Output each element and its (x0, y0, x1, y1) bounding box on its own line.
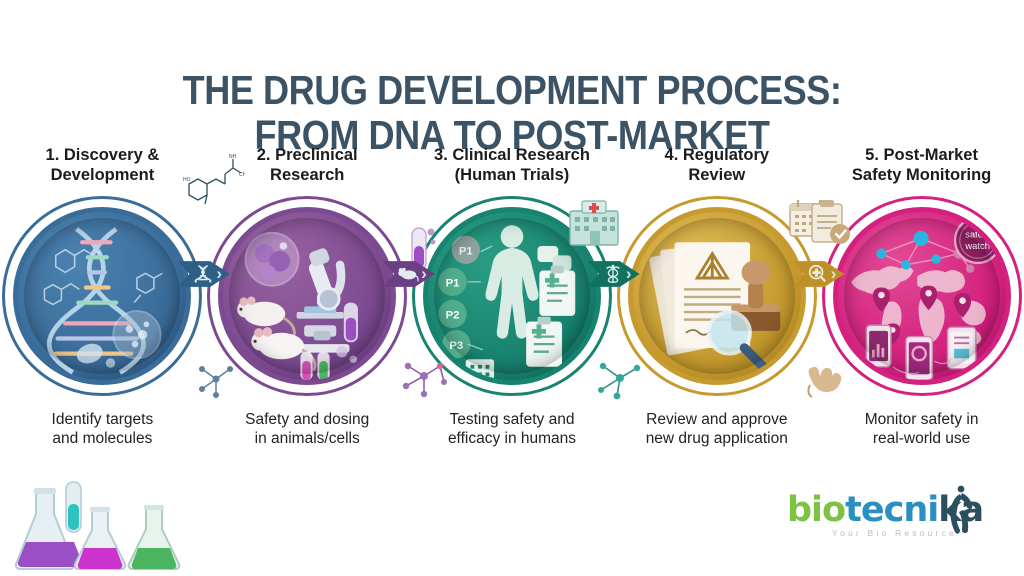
safety-watch-badge: safety watch (955, 218, 1000, 263)
molecule-node-icon (398, 350, 450, 402)
hand-pill-icon (800, 355, 846, 401)
clipboard-check-icon (806, 196, 854, 252)
stage-1-caption: Identify targetsand molecules (2, 410, 202, 449)
smartphone-icon (866, 325, 891, 367)
clipboard-icon (539, 266, 575, 316)
stage-2-caption: Safety and dosingin animals/cells (207, 410, 407, 449)
connector-stage-2-to-3: › (383, 251, 435, 297)
stage-3-label: 3. Clinical Research(Human Trials) (412, 146, 612, 190)
stage-1-inner-disc (13, 207, 191, 385)
stage-4-label: 4. RegulatoryReview (617, 146, 817, 190)
stage-5-artwork: safety watch (838, 212, 1006, 380)
clipboard-icon (526, 317, 562, 367)
stage-1-label: 1. Discovery &Development (2, 146, 202, 190)
phase-badges: P1 P1 P2 P3 (438, 236, 480, 359)
logo-part-tecni: tecni (845, 490, 938, 530)
chevron-right-icon: › (216, 265, 222, 282)
petri-dish-icon (114, 311, 161, 358)
stage-2-inner-disc (218, 207, 396, 385)
stage-5-caption: Monitor safety inreal-world use (822, 410, 1022, 449)
stage-2-artwork (223, 212, 391, 380)
erlenmeyer-flask (129, 505, 180, 569)
connector-stage-3-to-4: › (588, 251, 640, 297)
connector-stage-1-to-2: › (178, 251, 230, 297)
chevron-right-icon: › (626, 265, 632, 282)
logo-human-figure-icon (942, 480, 976, 534)
stage-1-circle[interactable] (2, 196, 202, 396)
microscope-icon (291, 247, 350, 353)
bacteria-icon (75, 341, 106, 367)
lab-mouse-icon (397, 262, 419, 286)
stage-4-inner-disc (628, 207, 806, 385)
stage-3-caption: Testing safety andefficacy in humans (412, 410, 612, 449)
svg-text:CH: CH (239, 172, 245, 178)
molecule-node-icon (192, 355, 240, 403)
svg-text:safety: safety (965, 228, 990, 239)
approval-search-icon (806, 262, 828, 286)
process-stage-row: 1. Discovery &Development (0, 146, 1024, 476)
logo-wordmark: biotecnika (787, 490, 1002, 532)
tablet-icon (947, 327, 975, 369)
chevron-right-icon: › (831, 265, 837, 282)
erlenmeyer-flask (75, 507, 126, 569)
molecule-serotonin-icon: HO NH CH (175, 150, 245, 220)
calendar-icon (466, 359, 494, 380)
laboratory-flasks-graphic (14, 480, 189, 572)
molecule-node-icon (593, 352, 647, 404)
title-line-1: THE DRUG DEVELOPMENT PROCESS: (183, 67, 842, 113)
logo-part-bio: bio (787, 490, 845, 530)
svg-text:NH: NH (229, 154, 237, 160)
caduceus-icon (602, 262, 624, 286)
dna-helix-icon (192, 262, 214, 286)
svg-text:P3: P3 (449, 340, 463, 352)
svg-text:HO: HO (183, 177, 191, 183)
svg-text:watch: watch (964, 240, 990, 251)
svg-text:P1: P1 (459, 245, 473, 257)
test-tube-icon (344, 303, 358, 343)
stage-5-label: 5. Post-MarketSafety Monitoring (822, 146, 1022, 190)
test-tube (66, 482, 81, 532)
stage-4-caption: Review and approvenew drug application (617, 410, 817, 449)
stage-5-inner-disc: safety watch (833, 207, 1011, 385)
hospital-building-icon (564, 193, 624, 248)
stage-1-artwork (18, 212, 186, 380)
stage-4-artwork (633, 212, 801, 380)
svg-text:P1: P1 (446, 278, 460, 290)
chevron-right-icon: › (421, 265, 427, 282)
biotecnika-logo[interactable]: biotecnika Your Bio Resource (787, 490, 1002, 552)
connector-stage-4-to-5: › (792, 251, 844, 297)
svg-text:P2: P2 (446, 310, 460, 322)
